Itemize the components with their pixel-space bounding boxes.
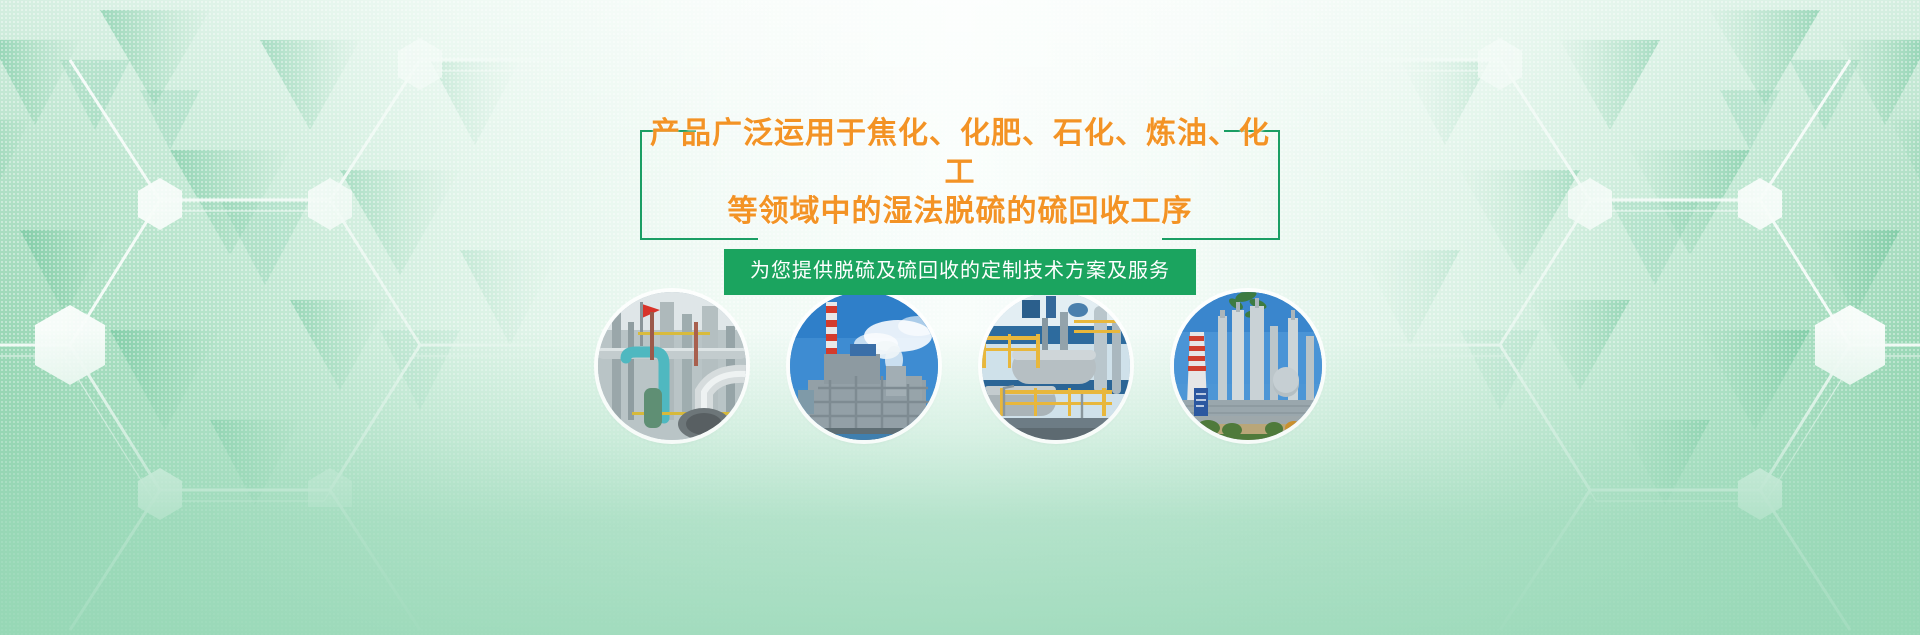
sub-banner-label: 为您提供脱硫及硫回收的定制技术方案及服务 [724, 249, 1196, 295]
storage-vessels-platform-image [982, 292, 1130, 440]
hero-banner: 产品广泛运用于焦化、化肥、石化、炼油、化工 等领域中的湿法脱硫的硫回收工序 为您… [0, 0, 1920, 635]
photo-circle-desulfurization-plant-chimney[interactable] [790, 292, 938, 440]
page-title: 产品广泛运用于焦化、化肥、石化、炼油、化工 等领域中的湿法脱硫的硫回收工序 [650, 114, 1270, 231]
photo-circle-refinery-distillation-columns[interactable] [1174, 292, 1322, 440]
headline-line-1: 产品广泛运用于焦化、化肥、石化、炼油、化工 [650, 114, 1270, 192]
bracket-right-line [1278, 130, 1280, 240]
desulfurization-plant-chimney-image [790, 292, 938, 440]
photo-circle-row [0, 292, 1920, 440]
photo-circle-storage-vessels-platform[interactable] [982, 292, 1130, 440]
bracket-bottom-line [640, 238, 1280, 240]
photo-circle-sulfur-recovery-piping-plant[interactable] [598, 292, 746, 440]
bracket-left-line [640, 130, 642, 240]
sulfur-recovery-piping-plant-image [598, 292, 746, 440]
headline-line-2: 等领域中的湿法脱硫的硫回收工序 [650, 192, 1270, 231]
bracket-frame: 产品广泛运用于焦化、化肥、石化、炼油、化工 等领域中的湿法脱硫的硫回收工序 为您… [640, 108, 1280, 295]
headline-block: 产品广泛运用于焦化、化肥、石化、炼油、化工 等领域中的湿法脱硫的硫回收工序 为您… [0, 108, 1920, 295]
refinery-distillation-columns-image [1174, 292, 1322, 440]
